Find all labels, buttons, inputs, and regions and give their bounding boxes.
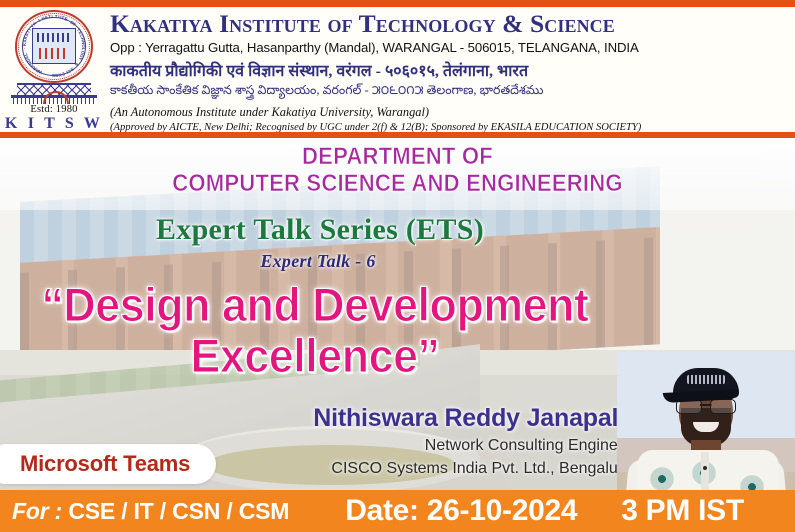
department-line-2: COMPUTER SCIENCE AND ENGINEERING: [32, 171, 763, 196]
institute-emblem-icon: KAKATIYA INSTITUTE OF TECHNOLOGY & SCIEN…: [15, 10, 93, 83]
platform-label: Microsoft Teams: [20, 451, 190, 476]
event-date: Date: 26-10-2024: [345, 494, 577, 528]
audience-list: CSE / IT / CSN / CSM: [68, 498, 289, 524]
series-title: Expert Talk Series (ETS): [0, 213, 640, 247]
institute-autonomy-note: (An Autonomous Institute under Kakatiya …: [110, 105, 789, 120]
event-time: 3 PM IST: [621, 494, 744, 528]
institute-address-english: Opp : Yerragattu Gutta, Hasanparthy (Man…: [110, 40, 789, 55]
speaker-name: Nithiswara Reddy Janapala: [0, 404, 640, 433]
institute-header-text: Kakatiya Institute of Technology & Scien…: [108, 7, 795, 133]
institute-header: KAKATIYA INSTITUTE OF TECHNOLOGY & SCIEN…: [0, 7, 795, 132]
speaker-photo: [617, 352, 795, 490]
department-heading: DEPARTMENT OF COMPUTER SCIENCE AND ENGIN…: [0, 144, 795, 197]
logo-short-name: K I T S W: [5, 116, 103, 132]
institute-logo: KAKATIYA INSTITUTE OF TECHNOLOGY & SCIEN…: [0, 7, 108, 132]
cap-icon: [673, 368, 739, 398]
institute-name: Kakatiya Institute of Technology & Scien…: [110, 11, 789, 37]
institute-address-telugu: కాకతీయ సాంకేతిక విజ్ఞాన శాస్త్ర విద్యాలయ…: [110, 83, 789, 101]
series-number: Expert Talk - 6: [0, 251, 636, 272]
platform-badge: Microsoft Teams: [0, 444, 216, 484]
bridge-graphic-icon: [11, 84, 97, 104]
audience-label: For :: [12, 498, 62, 524]
audience-info: For : CSE / IT / CSN / CSM: [0, 498, 289, 525]
talk-title: “Design and Development Excellence”: [16, 280, 615, 382]
event-poster: KAKATIYA INSTITUTE OF TECHNOLOGY & SCIEN…: [0, 0, 795, 532]
poster-body: DEPARTMENT OF COMPUTER SCIENCE AND ENGIN…: [0, 138, 795, 490]
logo-estd-label: Estd: 1980: [30, 104, 77, 115]
top-accent-strip: [0, 0, 795, 7]
footer-band: For : CSE / IT / CSN / CSM Date: 26-10-2…: [0, 490, 795, 532]
department-line-1: DEPARTMENT OF: [32, 144, 763, 169]
institute-address-hindi: काकतीय प्रौद्योगिकी एवं विज्ञान संस्थान,…: [110, 59, 789, 81]
